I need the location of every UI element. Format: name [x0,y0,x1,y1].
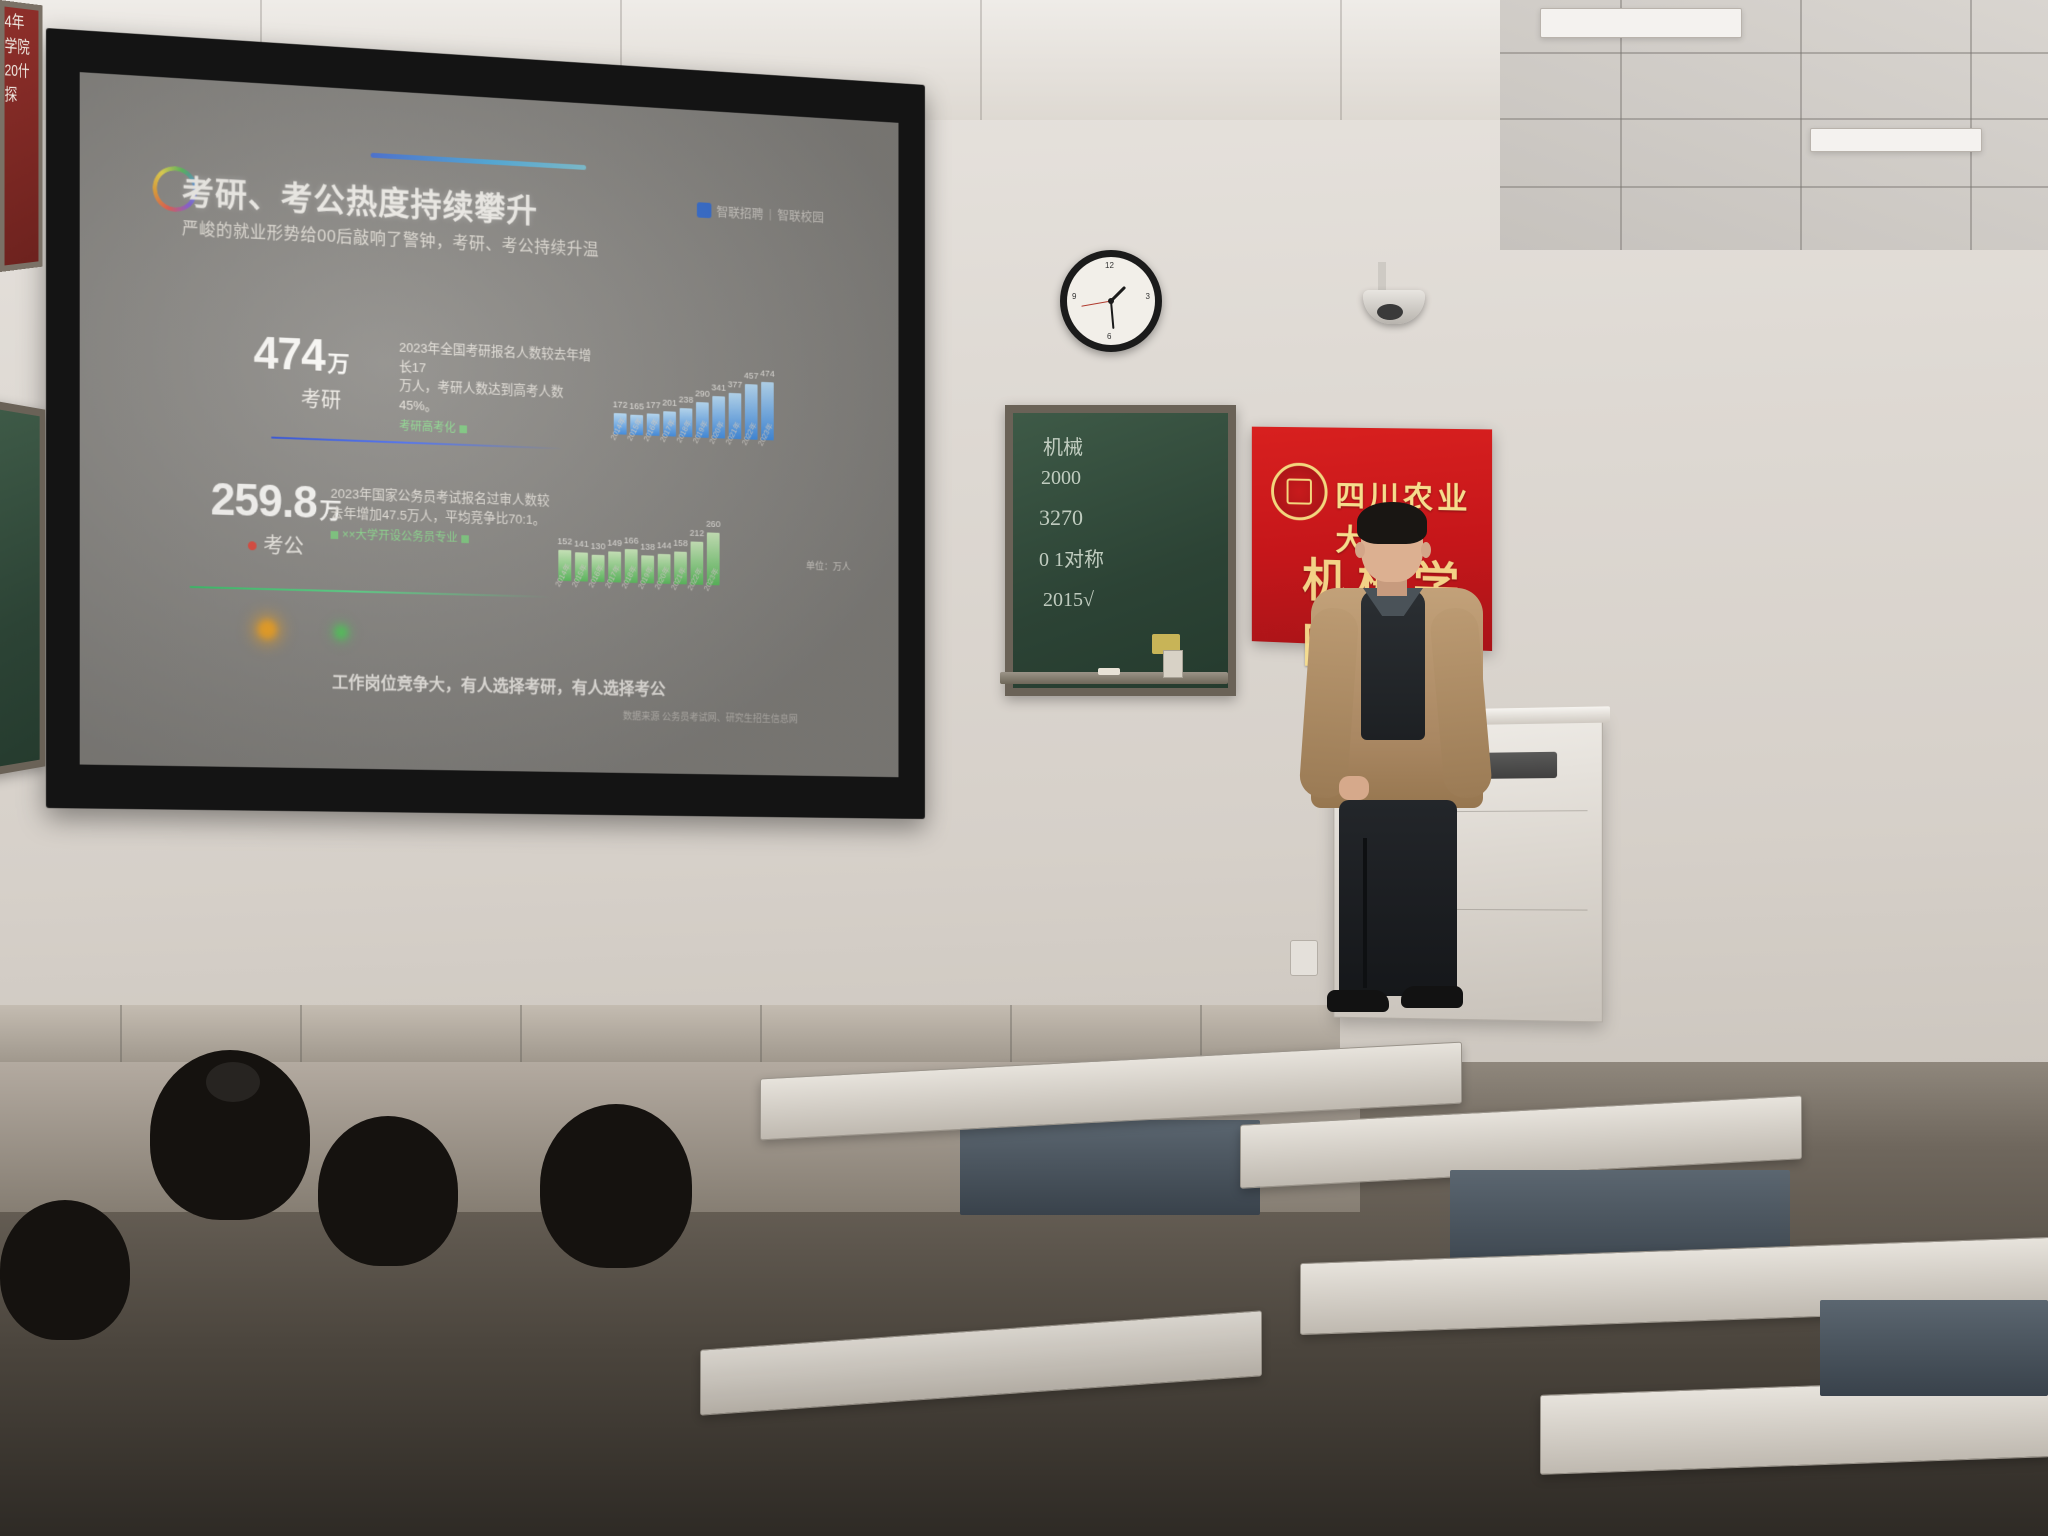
brand-name-right: 智联校园 [777,205,824,226]
chart-bar-value: 141 [574,539,589,550]
projection-screen-frame: 考研、考公热度持续攀升 严峻的就业形势给00后敲响了警钟，考研、考公持续升温 智… [46,28,925,819]
chart-bar-value: 144 [657,541,671,552]
chart-bar-value: 238 [679,394,693,405]
clock-number: 9 [1072,292,1076,301]
desk-panel [1820,1300,2048,1396]
brand-mark-icon [697,202,712,218]
audience-head [318,1116,458,1266]
chart-kaoyan: 1722014年1652015年1772016年2012017年2382018年… [614,334,893,469]
side-board-text: 4年 [5,7,39,35]
tag-square-icon [461,535,469,543]
screenshot-root: 考研、考公热度持续攀升 严峻的就业形势给00后敲响了警钟，考研、考公持续升温 智… [0,0,2048,1536]
chart-bar-column: 4572022年 [745,384,758,440]
marker-box [1163,650,1183,678]
presenter-shoe [1327,990,1389,1012]
chart-bars-blue: 1722014年1652015年1772016年2012017年2382018年… [614,373,774,441]
chart-bar-value: 201 [662,398,676,409]
slide-footer-note: 工作岗位竞争大，有人选择考研，有人选择考公 [80,663,899,705]
side-blackboard [0,400,45,776]
chart-bar-value: 172 [613,399,628,410]
chart-bar-column: 1382019年 [641,555,654,584]
chart-bar-column: 2012017年 [663,411,676,436]
desk-panel [960,1120,1260,1215]
stat-desc-line2: 万人，考研人数达到高考人数45%。 [399,376,600,422]
chart-bar-value: 149 [607,538,622,549]
tag-square-icon [459,425,467,433]
chart-bar-column: 2122022年 [691,541,704,585]
main-blackboard: 机械 2000 3270 0 1对称 2015√ [1005,405,1236,696]
chart-bar-value: 290 [695,388,709,399]
tag-square-icon [331,531,339,539]
blackboard-text: 0 1对称 [1039,543,1104,572]
clock-minute-hand [1110,301,1114,329]
clock-number: 12 [1105,261,1114,270]
presenter-hand [1339,776,1369,800]
stat-desc-kaoyan: 2023年全国考研报名人数较去年增长17 万人，考研人数达到高考人数45%。 考… [399,338,600,442]
chart-unit-note: 单位：万人 [806,557,851,573]
chart-bar-value: 341 [712,383,726,394]
blackboard-text: 2015√ [1043,589,1094,612]
chart-bar-value: 152 [557,536,572,547]
chart-bar-value: 457 [744,370,758,381]
chart-kaogong: 1522014年1412015年1302016年1492017年1662018年… [558,480,857,614]
stat-desc-kaogong: 2023年国家公务员考试报名过审人数较 去年增加47.5万人，平均竞争比70:1… [331,484,562,549]
audience-head [540,1104,692,1268]
divider-green [190,586,551,598]
presenter-ear [1421,542,1431,558]
chart-bar-column: 2602023年 [707,532,720,585]
chart-bar-value: 212 [690,528,704,539]
ceiling-light [1540,8,1742,38]
clock-center-pin [1108,298,1114,304]
chart-bar-column: 1492017年 [608,552,621,583]
chart-bar-value: 130 [591,541,606,552]
chart-bar-value: 166 [624,535,639,546]
brand-name-left: 智联招聘 [716,201,763,222]
side-board-text: 20什 [5,56,39,82]
chart-bar-value: 158 [673,538,687,549]
side-board-text: 探 [5,80,39,106]
presenter [1305,508,1485,1028]
presentation-slide: 考研、考公热度持续攀升 严峻的就业形势给00后敲响了警钟，考研、考公持续升温 智… [80,72,899,777]
presenter-ear [1355,542,1365,558]
chart-bar-value: 474 [760,369,774,380]
stat-unit: 万 [327,350,348,376]
chart-bar-value: 260 [706,519,720,530]
ceiling-light [1810,128,1982,152]
stat-category-kaoyan: 考研 [254,381,388,416]
stat-block-kaoyan: 474万 考研 [254,329,388,415]
chart-bar-column: 1662018年 [625,549,638,583]
chart-bar-column: 1412015年 [575,552,588,581]
chart-bar-value: 165 [629,401,644,412]
chart-bars-green: 1522014年1412015年1302016年1492017年1662018年… [558,519,719,585]
clock-second-hand [1081,301,1111,307]
chart-bar-column: 1772016年 [647,414,660,436]
presenter-shoe [1401,986,1463,1008]
projection-screen: 考研、考公热度持续攀升 严峻的就业形势给00后敲响了警钟，考研、考公持续升温 智… [80,72,899,777]
brand-logo: 智联招聘 | 智联校园 [697,200,824,225]
chart-bar-column: 3412020年 [712,396,725,438]
presenter-legs [1339,800,1457,996]
presenter-leg-split [1363,838,1367,988]
chart-bar-column: 4742023年 [761,382,774,440]
chart-bar-value: 177 [646,400,661,411]
chart-bar-column: 1442020年 [658,554,671,584]
chalk-piece [1098,668,1120,675]
blackboard-text: 2000 [1041,467,1081,490]
audience-head-highlight [206,1062,260,1102]
slide-accent-bar [371,153,586,170]
blackboard-text: 3270 [1039,505,1083,531]
chart-bar-column: 1582021年 [674,552,687,585]
slide-source: 数据来源 公务员考试网、研究生招生信息网 [623,708,798,726]
chart-bar-value: 377 [728,379,742,390]
wall-clock: 12 3 6 9 [1060,250,1162,352]
stat-number: 259.8 [211,473,317,528]
brand-separator: | [769,206,772,220]
side-red-board: 4年 学院 20什 探 [0,0,43,272]
chart-bar-column: 1522014年 [558,549,571,581]
presenter-hair [1357,502,1427,544]
stat-number: 474 [254,326,325,380]
audience-head [0,1200,130,1340]
clock-number: 3 [1146,292,1150,301]
chart-bar-column: 1302016年 [592,555,605,582]
glow-green-icon [334,625,347,639]
stat-value-kaoyan: 474万 [254,329,388,380]
chart-bar-column: 2382018年 [680,408,693,438]
bullet-dot-icon [248,541,257,550]
chart-bar-column: 1722014年 [614,413,627,435]
side-board-text: 学院 [5,31,39,58]
clock-number: 6 [1107,332,1111,341]
glow-orange-icon [258,619,277,639]
chart-bar-value: 138 [640,541,655,552]
blackboard-text: 机械 [1043,431,1083,460]
chart-bar-column: 1652015年 [630,415,643,436]
chart-bar-column: 2902019年 [696,402,709,438]
chart-bar-column: 3772021年 [729,393,742,440]
